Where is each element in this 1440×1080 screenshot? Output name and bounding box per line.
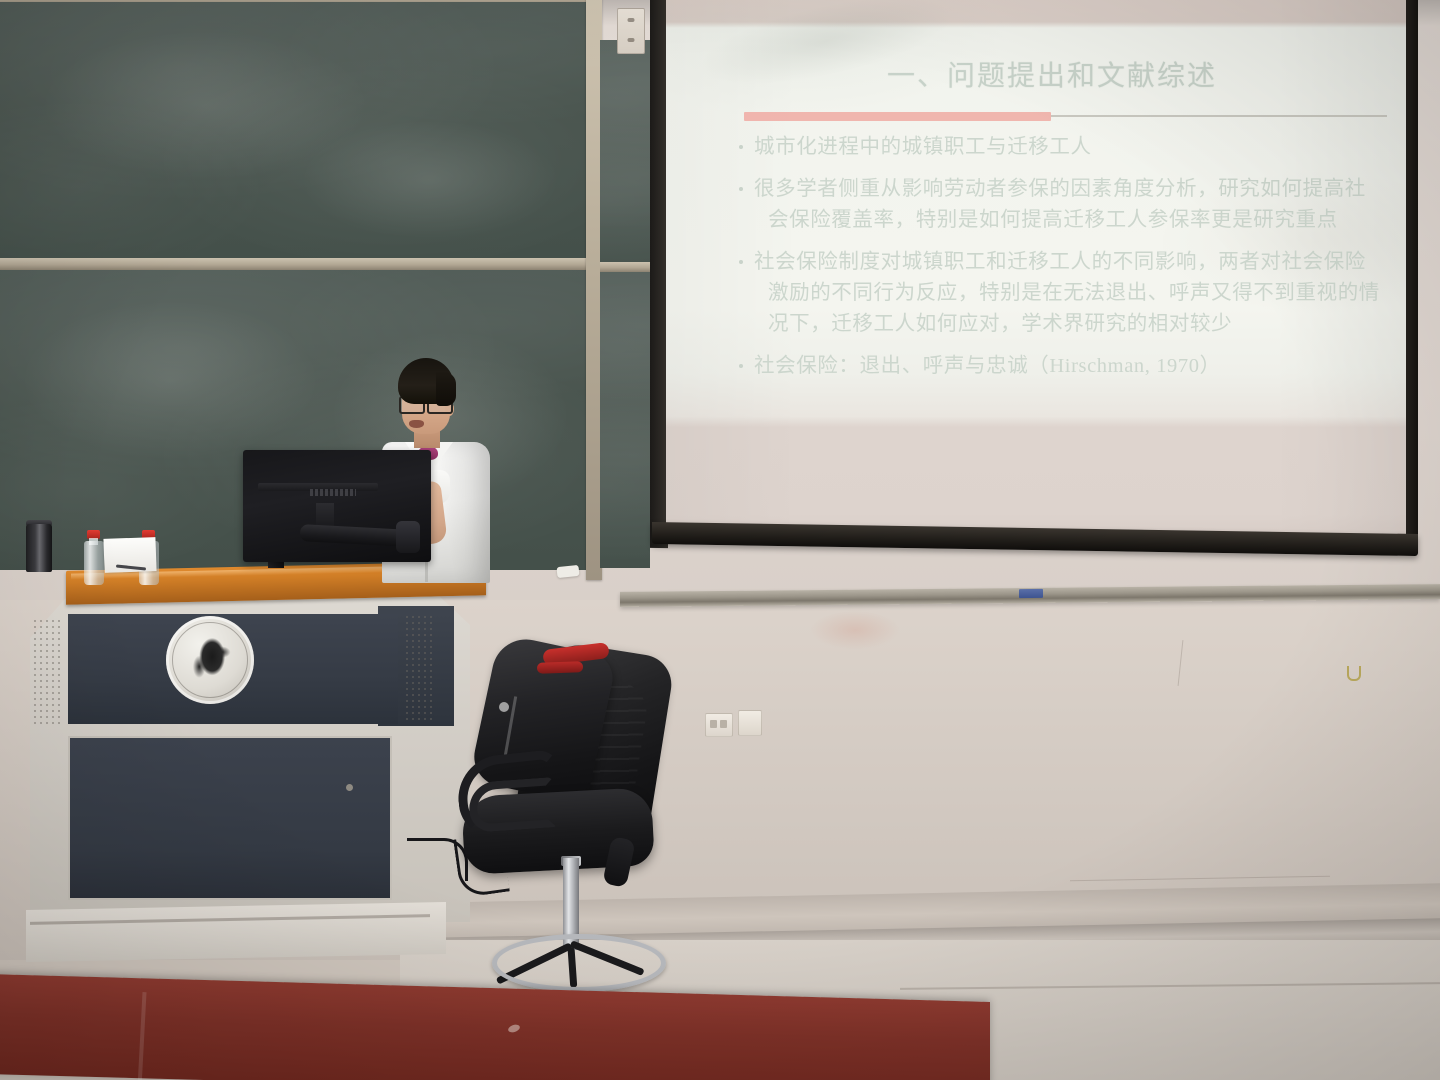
chalkboard-rail-right <box>600 262 650 272</box>
blue-eraser <box>1019 589 1043 598</box>
bullet-line-2: 激励的不同行为反应，特别是在无法退出、呼声又得不到重视的情 <box>754 278 1398 309</box>
bullet-line-1: 社会保险：退出、呼声与忠诚（Hirschman, 1970） <box>754 355 1221 377</box>
screw-point <box>628 38 635 42</box>
screen-surface: 一、问题提出和文献综述 城市化进程中的城镇职工与迁移工人 很多学者侧重从影响劳动… <box>666 0 1406 536</box>
title-accent-rule <box>744 112 1051 121</box>
podium-vent-left <box>32 618 62 728</box>
chair-base-ring <box>492 934 666 992</box>
outlet-jack <box>720 720 727 728</box>
slide-bullet-list: 城市化进程中的城镇职工与迁移工人 很多学者侧重从影响劳动者参保的因素角度分析，研… <box>738 132 1398 393</box>
slide-title: 一、问题提出和文献综述 <box>682 54 1406 94</box>
office-chair <box>455 640 705 1000</box>
bullet-line-3: 况下，迁移工人如何应对，学术界研究的相对较少 <box>754 309 1398 340</box>
monitor-arm-joint <box>396 521 420 553</box>
podium-base <box>26 902 446 962</box>
backpack-strap <box>537 661 583 674</box>
bullet-item: 很多学者侧重从影响劳动者参保的因素角度分析，研究如何提高社 会保险覆盖率，特别是… <box>738 174 1398 236</box>
ledge-hook <box>1347 666 1361 681</box>
lectern-podium <box>16 566 486 956</box>
bullet-item: 社会保险：退出、呼声与忠诚（Hirschman, 1970） <box>738 351 1398 382</box>
chalkboard-right-upper <box>600 40 650 262</box>
bullet-line-1: 社会保险制度对城镇职工和迁移工人的不同影响，两者对社会保险 <box>754 251 1366 273</box>
podium-lock-handle[interactable] <box>346 784 353 791</box>
presenter-mouth <box>409 420 424 428</box>
title-thin-rule <box>1051 115 1387 117</box>
chair-armrest-inner <box>467 777 556 833</box>
bullet-line-1: 很多学者侧重从影响劳动者参保的因素角度分析，研究如何提高社 <box>754 178 1366 200</box>
podium-lower-panel <box>68 736 392 900</box>
backpack-clip <box>499 702 509 712</box>
bullet-line-1: 城市化进程中的城镇职工与迁移工人 <box>754 136 1092 158</box>
chalkboard-rail-mid <box>0 258 586 270</box>
chalkboard-upper-left <box>0 2 586 260</box>
wall-outlet-right[interactable] <box>738 710 762 736</box>
water-bottle-left <box>84 541 104 585</box>
projection-screen: 一、问题提出和文献综述 城市化进程中的城镇职工与迁移工人 很多学者侧重从影响劳动… <box>650 0 1418 554</box>
monitor-brand-logo <box>310 489 356 496</box>
emblem-ring <box>172 622 248 698</box>
university-emblem <box>166 616 254 704</box>
bullet-line-2: 会保险覆盖率，特别是如何提高迁移工人参保率更是研究重点 <box>754 205 1398 236</box>
presenter-hair-side <box>436 372 456 406</box>
outlet-jack <box>710 720 717 728</box>
screw-point <box>628 18 635 22</box>
lecture-hall-scene: 一、问题提出和文献综述 城市化进程中的城镇职工与迁移工人 很多学者侧重从影响劳动… <box>0 0 1440 1080</box>
monitor-vesa-mount <box>316 503 334 527</box>
wall-outlet-left[interactable] <box>705 713 733 737</box>
slide-content: 一、问题提出和文献综述 城市化进程中的城镇职工与迁移工人 很多学者侧重从影响劳动… <box>682 28 1406 498</box>
black-thermos <box>26 524 52 572</box>
podium-vent-right <box>404 614 434 722</box>
bullet-item: 社会保险制度对城镇职工和迁移工人的不同影响，两者对社会保险 激励的不同行为反应，… <box>738 247 1398 340</box>
wall-switch-plate[interactable] <box>617 8 645 54</box>
chalk-piece <box>556 565 579 578</box>
chalkboard-right-lower <box>600 272 650 568</box>
bullet-item: 城市化进程中的城镇职工与迁移工人 <box>738 132 1398 163</box>
